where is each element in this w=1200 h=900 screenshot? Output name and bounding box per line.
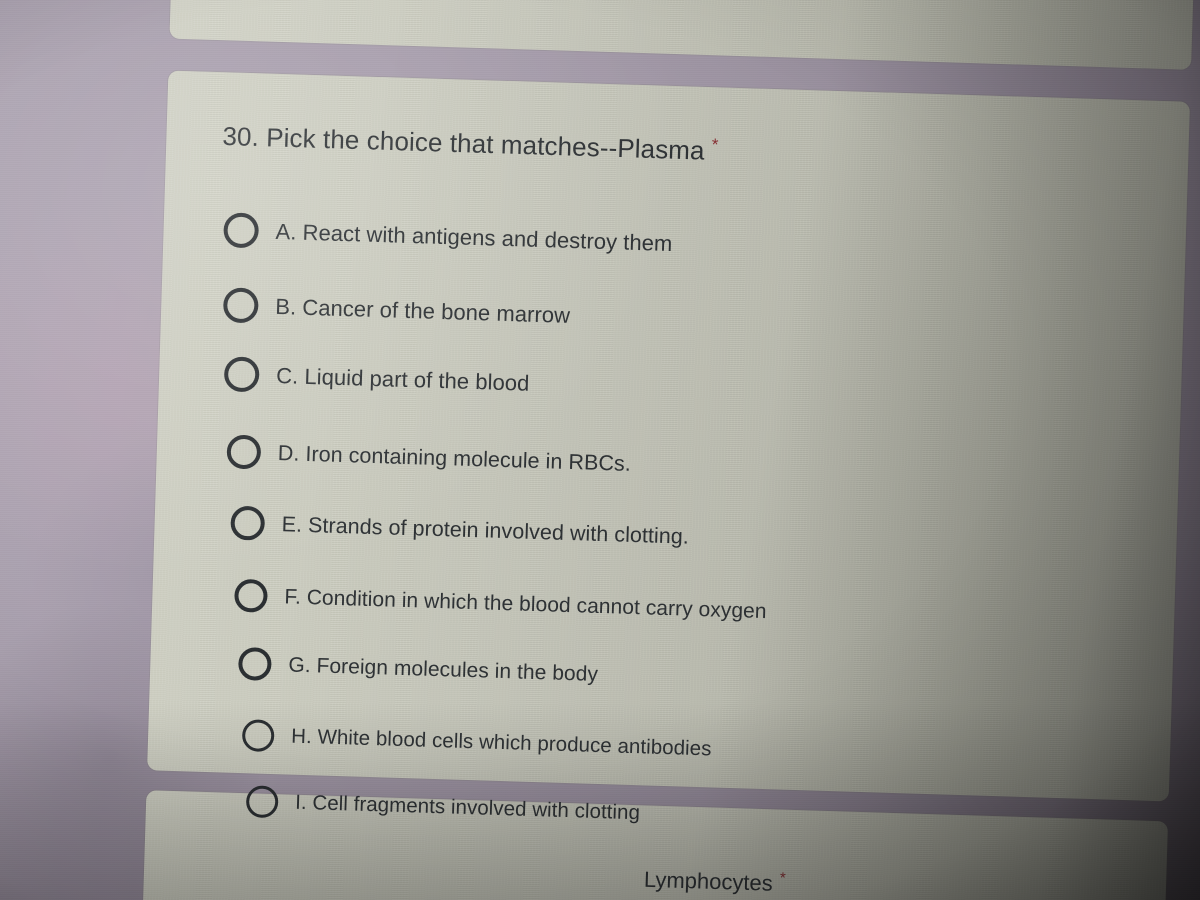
option-label: A. React with antigens and destroy them <box>275 218 673 256</box>
option-label: D. Iron containing molecule in RBCs. <box>277 441 631 477</box>
option-label: E. Strands of protein involved with clot… <box>281 512 689 549</box>
option-label: C. Liquid part of the blood <box>276 362 530 396</box>
question-card: 30. Pick the choice that matches--Plasma… <box>147 71 1190 802</box>
option-label: H. White blood cells which produce antib… <box>291 725 712 762</box>
option-label: G. Foreign molecules in the body <box>288 653 598 686</box>
option-c[interactable]: C. Liquid part of the blood <box>224 356 530 400</box>
option-b[interactable]: B. Cancer of the bone marrow <box>223 287 571 333</box>
next-question-title: Lymphocytes* <box>644 865 786 897</box>
form-screen: 30. Pick the choice that matches--Plasma… <box>0 0 1200 900</box>
radio-button-icon[interactable] <box>242 719 275 752</box>
question-title: 30. Pick the choice that matches--Plasma… <box>222 120 719 167</box>
previous-question-card <box>169 0 1194 70</box>
required-asterisk: * <box>780 870 786 887</box>
radio-button-icon[interactable] <box>246 785 279 818</box>
radio-button-icon[interactable] <box>223 212 259 248</box>
next-question-title-text: Lymphocytes <box>644 867 774 896</box>
photo-of-screen: 30. Pick the choice that matches--Plasma… <box>0 0 1200 900</box>
option-h[interactable]: H. White blood cells which produce antib… <box>242 719 712 765</box>
option-label: F. Condition in which the blood cannot c… <box>284 585 767 624</box>
radio-button-icon[interactable] <box>234 579 268 613</box>
option-label: I. Cell fragments involved with clotting <box>295 791 641 826</box>
option-e[interactable]: E. Strands of protein involved with clot… <box>230 506 689 554</box>
question-card-content: 30. Pick the choice that matches--Plasma… <box>168 71 1190 102</box>
required-asterisk: * <box>712 135 719 154</box>
option-a[interactable]: A. React with antigens and destroy them <box>223 212 673 261</box>
radio-button-icon[interactable] <box>226 435 261 470</box>
option-f[interactable]: F. Condition in which the blood cannot c… <box>234 579 767 628</box>
radio-button-icon[interactable] <box>238 647 272 681</box>
radio-button-icon[interactable] <box>230 506 265 541</box>
radio-button-icon[interactable] <box>223 287 259 323</box>
radio-button-icon[interactable] <box>224 356 260 392</box>
option-d[interactable]: D. Iron containing molecule in RBCs. <box>226 435 631 481</box>
question-title-text: 30. Pick the choice that matches--Plasma <box>222 121 705 166</box>
option-g[interactable]: G. Foreign molecules in the body <box>238 647 599 691</box>
option-label: B. Cancer of the bone marrow <box>275 293 571 328</box>
